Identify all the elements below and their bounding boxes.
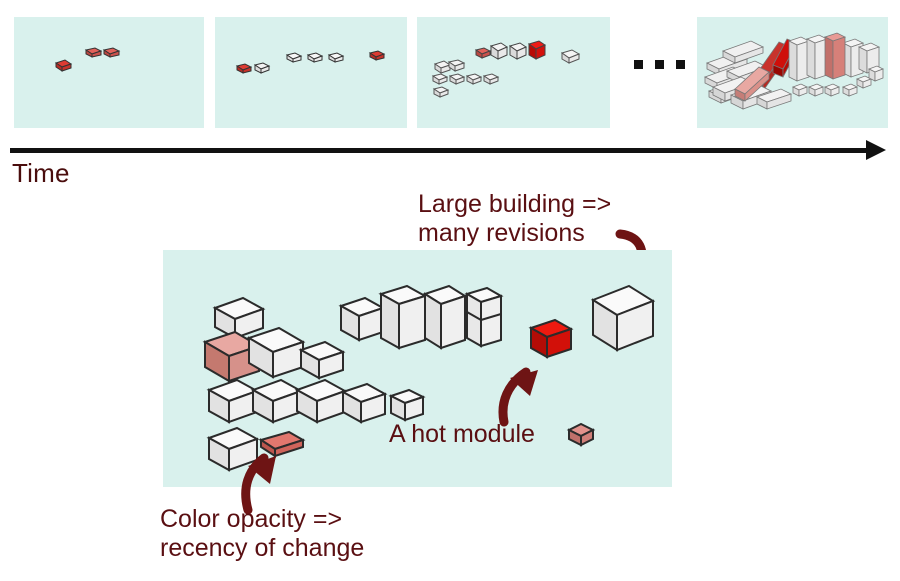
arrow-right-icon — [866, 140, 886, 160]
timeline-ellipsis — [634, 60, 685, 69]
timeline-panel-2-blocks — [215, 17, 407, 128]
timeline-panel-3-blocks — [417, 17, 610, 128]
ellipsis-dot-1 — [634, 60, 643, 69]
pink-cube-icon — [565, 418, 599, 452]
annotation-color-opacity: Color opacity => recency of change — [160, 505, 364, 562]
annotation-large-building: Large building => many revisions — [418, 190, 611, 247]
arrow-up-curved-icon-hot — [484, 348, 554, 428]
timeline-panel-2[interactable] — [215, 17, 407, 128]
timeline-panel-3[interactable] — [417, 17, 610, 128]
timeline-strip — [0, 0, 900, 135]
annotation-hot-module: A hot module — [389, 420, 535, 449]
time-axis-label: Time — [12, 158, 70, 189]
timeline-panel-1[interactable] — [14, 17, 204, 128]
ellipsis-dot-3 — [676, 60, 685, 69]
timeline-panel-1-blocks — [14, 17, 204, 128]
ellipsis-dot-2 — [655, 60, 664, 69]
timeline-panel-4-blocks — [697, 17, 888, 128]
timeline-panel-4[interactable] — [697, 17, 888, 128]
time-axis-line — [10, 148, 870, 153]
